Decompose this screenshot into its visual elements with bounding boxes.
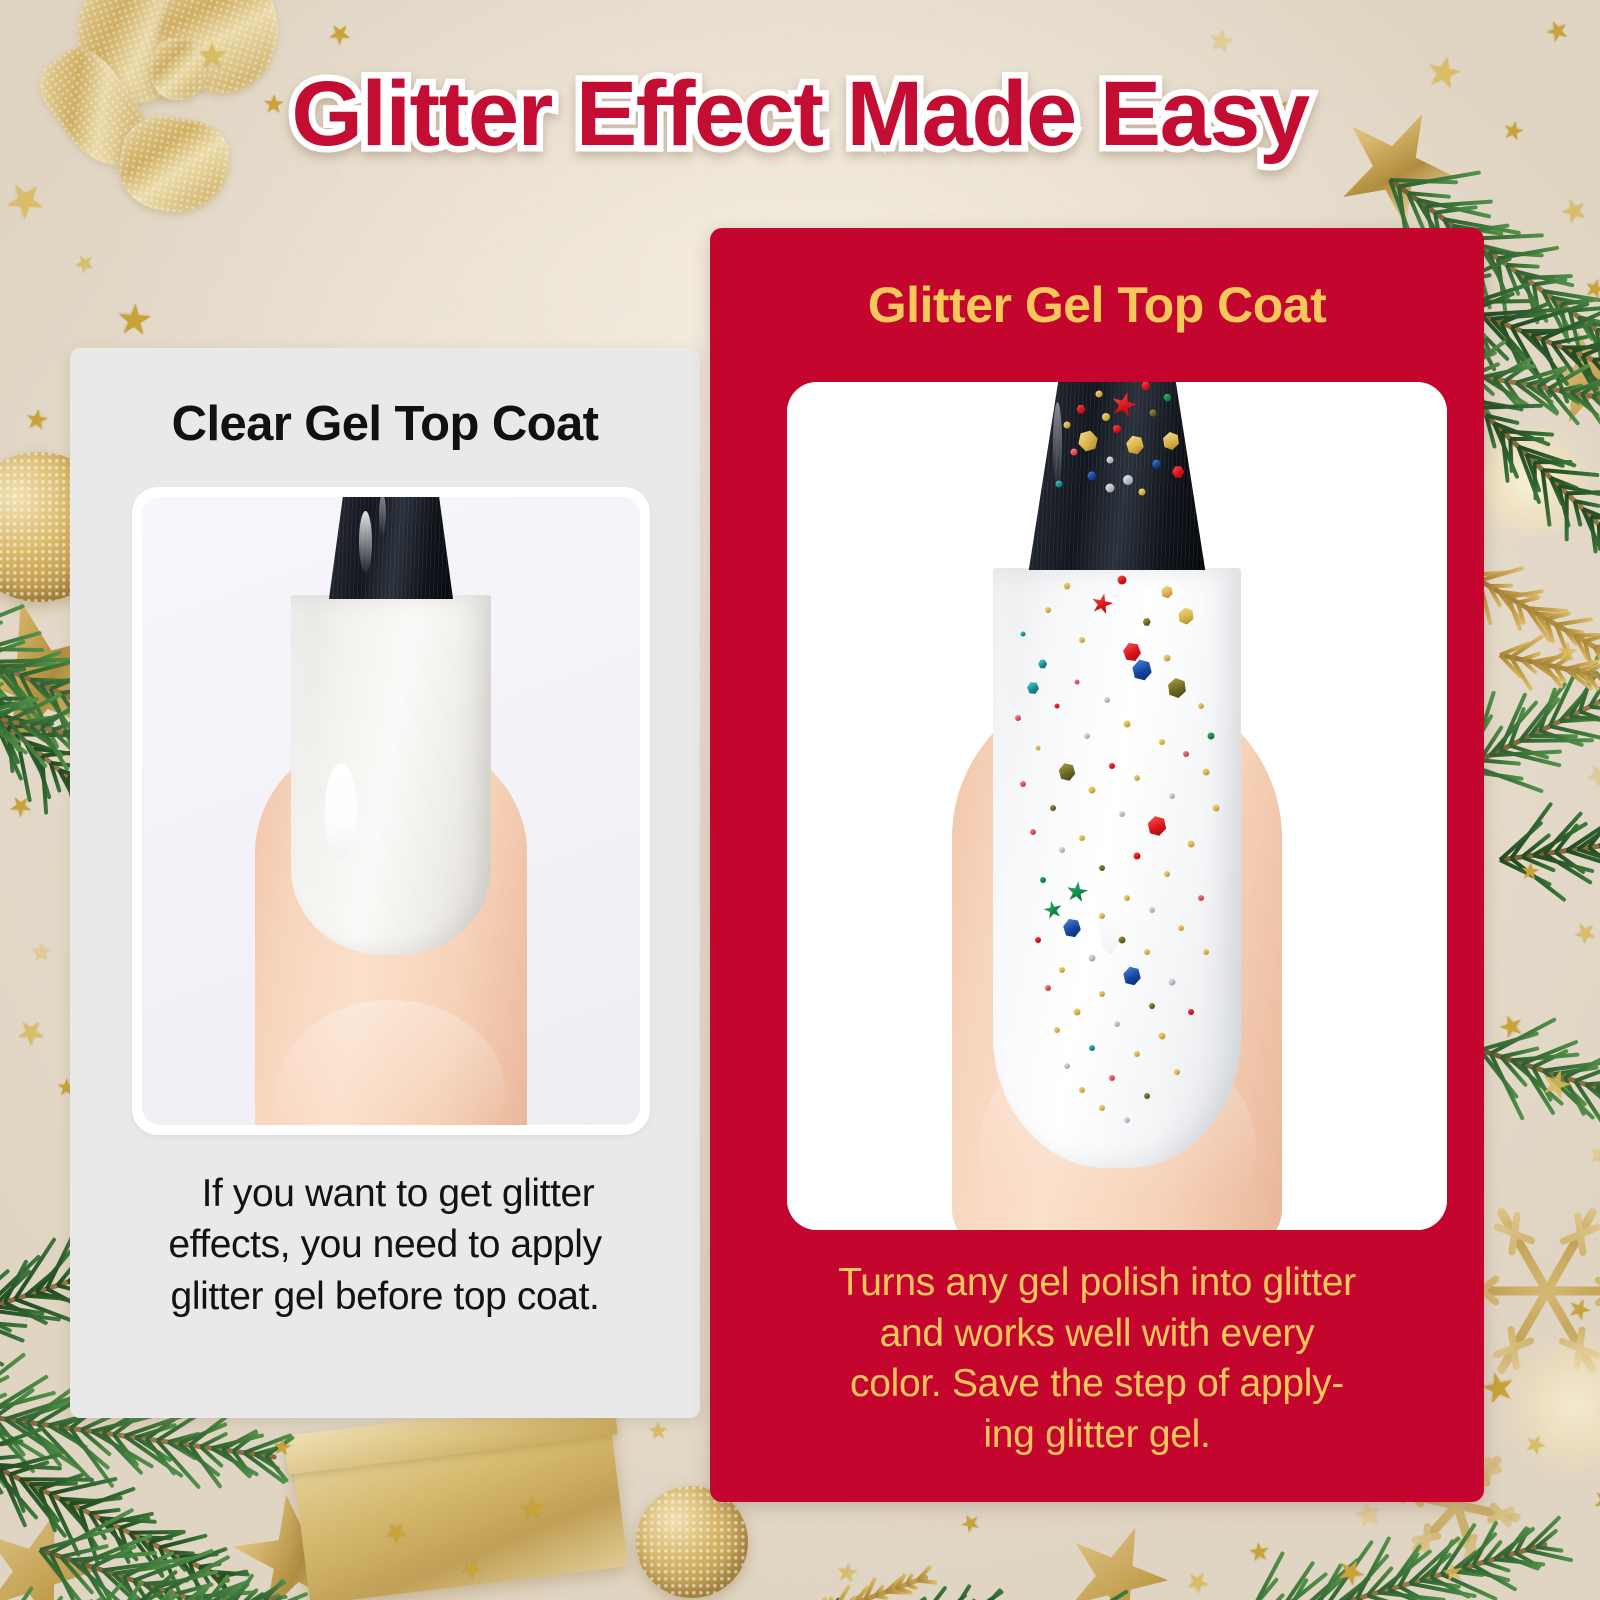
page-title: Glitter Effect Made Easy [0, 62, 1600, 167]
glitter-particle-dot [1109, 763, 1115, 769]
clear-gel-heading: Clear Gel Top Coat [70, 396, 700, 452]
glitter-particle-dot [1040, 877, 1046, 883]
glitter-particle-dot [1123, 475, 1133, 485]
glitter-particle-dot [1168, 979, 1175, 986]
nail-glitter [993, 568, 1241, 1168]
caption-line: and works well with every [756, 1309, 1438, 1360]
glitter-particle-dot [1109, 1075, 1115, 1081]
glitter-particle-dot [1089, 787, 1096, 794]
caption-line: If you want to get glitter [104, 1168, 666, 1219]
glitter-particle-dot [1015, 715, 1021, 721]
glitter-particle-hex [1145, 814, 1169, 838]
glitter-particle-hex [1057, 762, 1077, 782]
glitter-particle-dot [1124, 1117, 1130, 1123]
glitter-particle-dot [1149, 907, 1155, 913]
glitter-particle-dot [1174, 1069, 1180, 1075]
glitter-particle-dot [1213, 805, 1220, 812]
clear-gel-card: Clear Gel Top Coat If you want to get gl… [70, 348, 700, 1418]
glitter-particle-star [1108, 390, 1140, 422]
glitter-particle-hex [1087, 471, 1096, 480]
glitter-particle-dot [1099, 865, 1105, 871]
glitter-particle-dot [1070, 449, 1077, 456]
glitter-gel-nail-photo [787, 382, 1447, 1230]
glitter-particle-hex [1124, 434, 1145, 455]
glitter-particle-dot [1079, 637, 1085, 643]
caption-line: Turns any gel polish into glitter [756, 1258, 1438, 1309]
glitter-particle-hex [1159, 584, 1174, 599]
glitter-particle-dot [1188, 1009, 1194, 1015]
glitter-particle-dot [1149, 1003, 1155, 1009]
glitter-particle-dot [1105, 483, 1114, 492]
glitter-particle-dot [1203, 769, 1210, 776]
glitter-particle-hex [1130, 658, 1154, 682]
glitter-particle-dot [1059, 847, 1065, 853]
glitter-particle-hex [1163, 394, 1171, 402]
glitter-particle-dot [1144, 1093, 1150, 1099]
glitter-particle-hex [1164, 676, 1188, 700]
glitter-particle-dot [1089, 955, 1096, 962]
glitter-particle-dot [1104, 697, 1110, 703]
glitter-gel-heading: Glitter Gel Top Coat [710, 276, 1484, 334]
glitter-particle-dot [1113, 425, 1121, 433]
glitter-particle-dot [1159, 739, 1165, 745]
glitter-particle-dot [1139, 488, 1146, 495]
glitter-particle-dot [1114, 1021, 1120, 1027]
glitter-particle-dot [1059, 967, 1065, 973]
glitter-particle-dot [1150, 410, 1157, 417]
glitter-gel-caption: Turns any gel polish into glitter and wo… [756, 1258, 1438, 1461]
nail-clear [291, 595, 491, 955]
glitter-particle-dot [1055, 704, 1060, 709]
glitter-particle-hex [1077, 405, 1086, 414]
caption-line: color. Save the step of apply- [756, 1359, 1438, 1410]
glitter-particle-dot [1063, 421, 1070, 428]
glitter-particle-hex [1152, 460, 1161, 469]
glitter-particle-dot [1203, 949, 1209, 955]
clear-gel-caption: If you want to get glitter effects, you … [104, 1168, 666, 1322]
glitter-gel-card: Glitter Gel Top Coat Turns any gel polis… [710, 228, 1484, 1502]
glitter-particle-hex [1172, 466, 1184, 478]
glitter-particle-dot [1096, 390, 1103, 397]
glitter-particle-star [1065, 880, 1090, 905]
glitter-particle-dot [1106, 457, 1113, 464]
polish-brush-glitter [1027, 382, 1207, 570]
glitter-particle-dot [1163, 655, 1170, 662]
glitter-particle-dot [1075, 680, 1080, 685]
glitter-particle-dot [1158, 1033, 1165, 1040]
glitter-particle-dot [1054, 1027, 1060, 1033]
glitter-particle-dot [1035, 937, 1041, 943]
glitter-particle-dot [1045, 607, 1051, 613]
glitter-particle-hex [1026, 681, 1039, 694]
glitter-particle-dot [1079, 1087, 1085, 1093]
glitter-particle-dot [1183, 751, 1189, 757]
glitter-particle-dot [1117, 576, 1126, 585]
glitter-particle-dot [1198, 703, 1204, 709]
glitter-particle-dot [1123, 721, 1130, 728]
glitter-particle-dot [1134, 1051, 1140, 1057]
glitter-particle-dot [1099, 991, 1105, 997]
glitter-gel-image-panel [787, 382, 1447, 1230]
caption-line: effects, you need to apply [104, 1219, 666, 1270]
glitter-particle-hex [1062, 918, 1083, 939]
glitter-particle-dot [1035, 746, 1040, 751]
glitter-particle-dot [1134, 775, 1140, 781]
glitter-particle-dot [1119, 811, 1125, 817]
glitter-particle-dot [1124, 895, 1130, 901]
glitter-particle-dot [1178, 925, 1184, 931]
glitter-particle-dot [1133, 853, 1140, 860]
clear-gel-nail-photo [142, 497, 640, 1125]
glitter-particle-layer [993, 568, 1241, 1168]
glitter-particle-hex [1141, 382, 1150, 390]
glitter-particle-hex [1121, 965, 1143, 987]
glitter-particle-dot [1050, 805, 1056, 811]
glitter-particle-dot [1074, 1009, 1081, 1016]
glitter-particle-hex [1063, 582, 1071, 590]
glitter-particle-hex [1038, 660, 1047, 669]
polish-brush [325, 497, 457, 599]
glitter-particle-dot [1102, 413, 1110, 421]
glitter-particle-layer-brush [1027, 382, 1207, 570]
glitter-particle-hex [1122, 642, 1142, 662]
glitter-particle-dot [1020, 632, 1025, 637]
glitter-particle-hex [1160, 430, 1182, 452]
glitter-particle-hex [1143, 618, 1151, 626]
glitter-particle-star [1089, 591, 1115, 617]
glitter-particle-dot [1089, 1045, 1095, 1051]
glitter-particle-hex [1076, 428, 1101, 453]
glitter-particle-dot [1045, 985, 1051, 991]
caption-line: ing glitter gel. [756, 1410, 1438, 1461]
glitter-particle-dot [1056, 480, 1063, 487]
clear-gel-image-panel [132, 487, 650, 1135]
glitter-particle-dot [1164, 871, 1170, 877]
glitter-particle-dot [1198, 895, 1204, 901]
glitter-particle-dot [1144, 949, 1150, 955]
glitter-particle-dot [1099, 1105, 1105, 1111]
glitter-particle-star [1041, 899, 1064, 922]
glitter-particle-dot [1118, 937, 1125, 944]
glitter-particle-dot [1030, 829, 1036, 835]
glitter-particle-dot [1079, 835, 1085, 841]
caption-line: glitter gel before top coat. [104, 1271, 666, 1322]
glitter-particle-dot [1064, 1063, 1070, 1069]
glitter-particle-dot [1169, 793, 1175, 799]
glitter-particle-dot [1084, 733, 1090, 739]
glitter-particle-dot [1020, 781, 1026, 787]
glitter-particle-dot [1188, 841, 1195, 848]
glitter-particle-dot [1208, 733, 1215, 740]
glitter-particle-dot [1099, 913, 1105, 919]
nail-gloss-highlight [325, 763, 357, 859]
glitter-particle-hex [1176, 606, 1197, 627]
